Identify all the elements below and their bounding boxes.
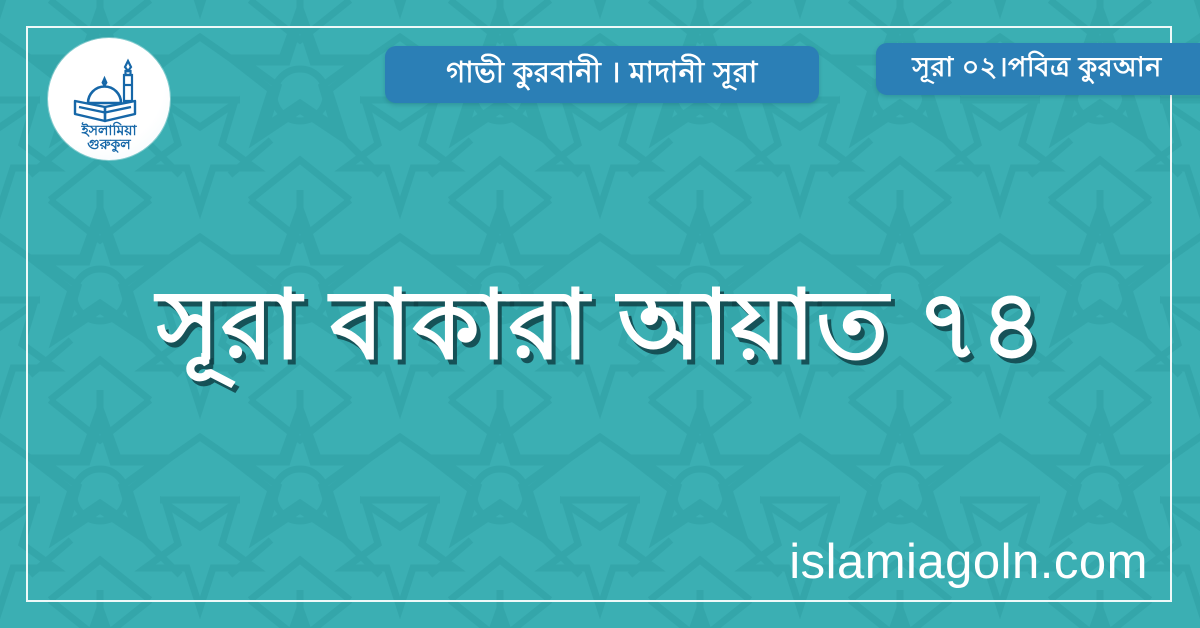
mosque-dome-icon — [88, 79, 121, 103]
islamic-banner-card: ইসলামিয়া গুরুকুল গাভী কুরবানী । মাদানী … — [0, 0, 1200, 628]
website-url[interactable]: islamiagoln.com — [789, 534, 1148, 590]
brand-logo: ইসলামিয়া গুরুকুল — [48, 38, 170, 160]
badge-category[interactable]: গাভী কুরবানী । মাদানী সূরা — [385, 46, 819, 103]
minaret-icon — [123, 61, 133, 101]
page-title: সূরা বাকারা আয়াত ৭৪ — [0, 272, 1200, 380]
badge-surah-number[interactable]: সূরা ০২।পবিত্র কুরআন — [876, 43, 1200, 95]
logo-text-line2: গুরুকুল — [87, 136, 131, 153]
